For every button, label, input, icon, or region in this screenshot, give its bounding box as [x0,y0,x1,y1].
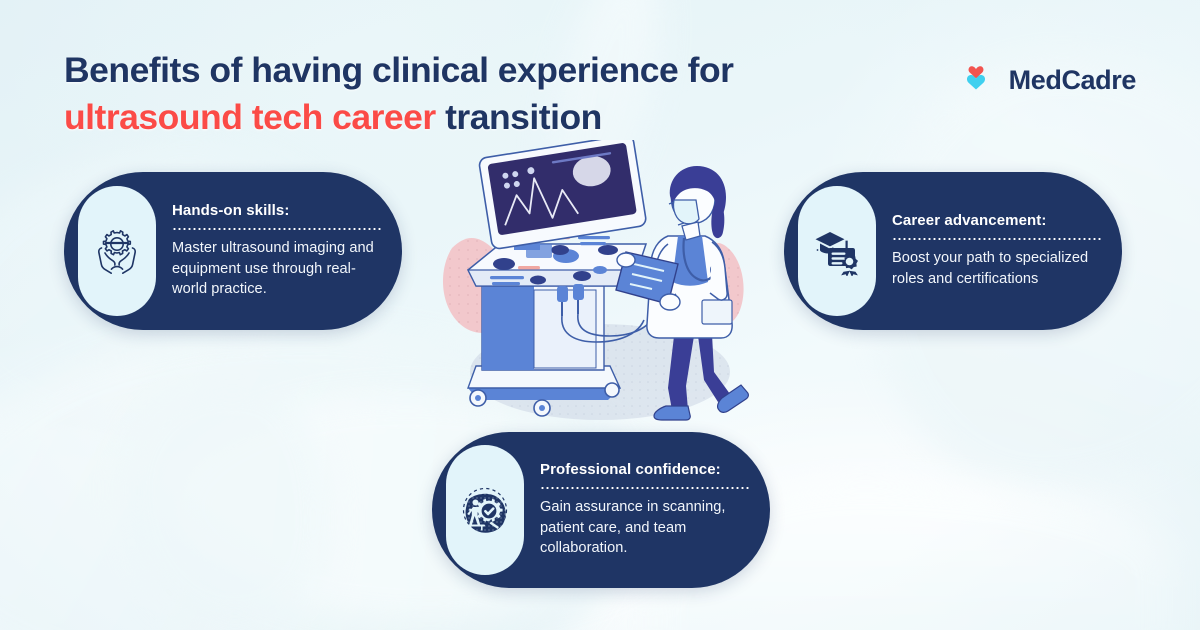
card-divider [540,487,750,489]
card-text-career-advancement: Boost your path to specialized roles and… [892,248,1102,289]
benefit-card-career-advancement: Career advancement: Boost your path to s… [784,172,1122,330]
graduation-cap-certificate-icon [812,226,862,276]
icon-badge-career-advancement [798,186,876,316]
card-text-professional-confidence: Gain assurance in scanning, patient care… [540,497,750,559]
confident-person-gear-check-icon [460,485,510,535]
logo-text: MedCadre [1009,65,1136,96]
card-divider [892,238,1102,240]
benefit-card-hands-on-skills: Hands-on skills: Master ultrasound imagi… [64,172,402,330]
card-title-hands-on-skills: Hands-on skills: [172,202,382,221]
card-body-career-advancement: Career advancement: Boost your path to s… [876,212,1106,289]
brand-logo[interactable]: MedCadre [954,58,1136,102]
hands-holding-gear-icon [92,226,142,276]
card-title-career-advancement: Career advancement: [892,212,1102,231]
icon-badge-professional-confidence [446,445,524,575]
icon-badge-hands-on-skills [78,186,156,316]
title-line-2: ultrasound tech career transition [64,94,904,141]
page-title: Benefits of having clinical experience f… [64,47,904,141]
card-body-professional-confidence: Professional confidence: Gain assurance … [524,461,754,559]
card-title-professional-confidence: Professional confidence: [540,461,750,480]
ultrasound-illustration [430,140,770,430]
card-body-hands-on-skills: Hands-on skills: Master ultrasound imagi… [156,202,386,300]
title-accent-text: ultrasound tech career [64,97,436,137]
card-text-hands-on-skills: Master ultrasound imaging and equipment … [172,238,382,300]
logo-mark-icon [954,58,998,102]
ultrasound-machine-and-technician-illustration [430,140,770,430]
card-divider [172,228,382,230]
benefit-card-professional-confidence: Professional confidence: Gain assurance … [432,432,770,588]
title-line-1: Benefits of having clinical experience f… [64,47,904,94]
title-rest-text: transition [436,97,602,137]
